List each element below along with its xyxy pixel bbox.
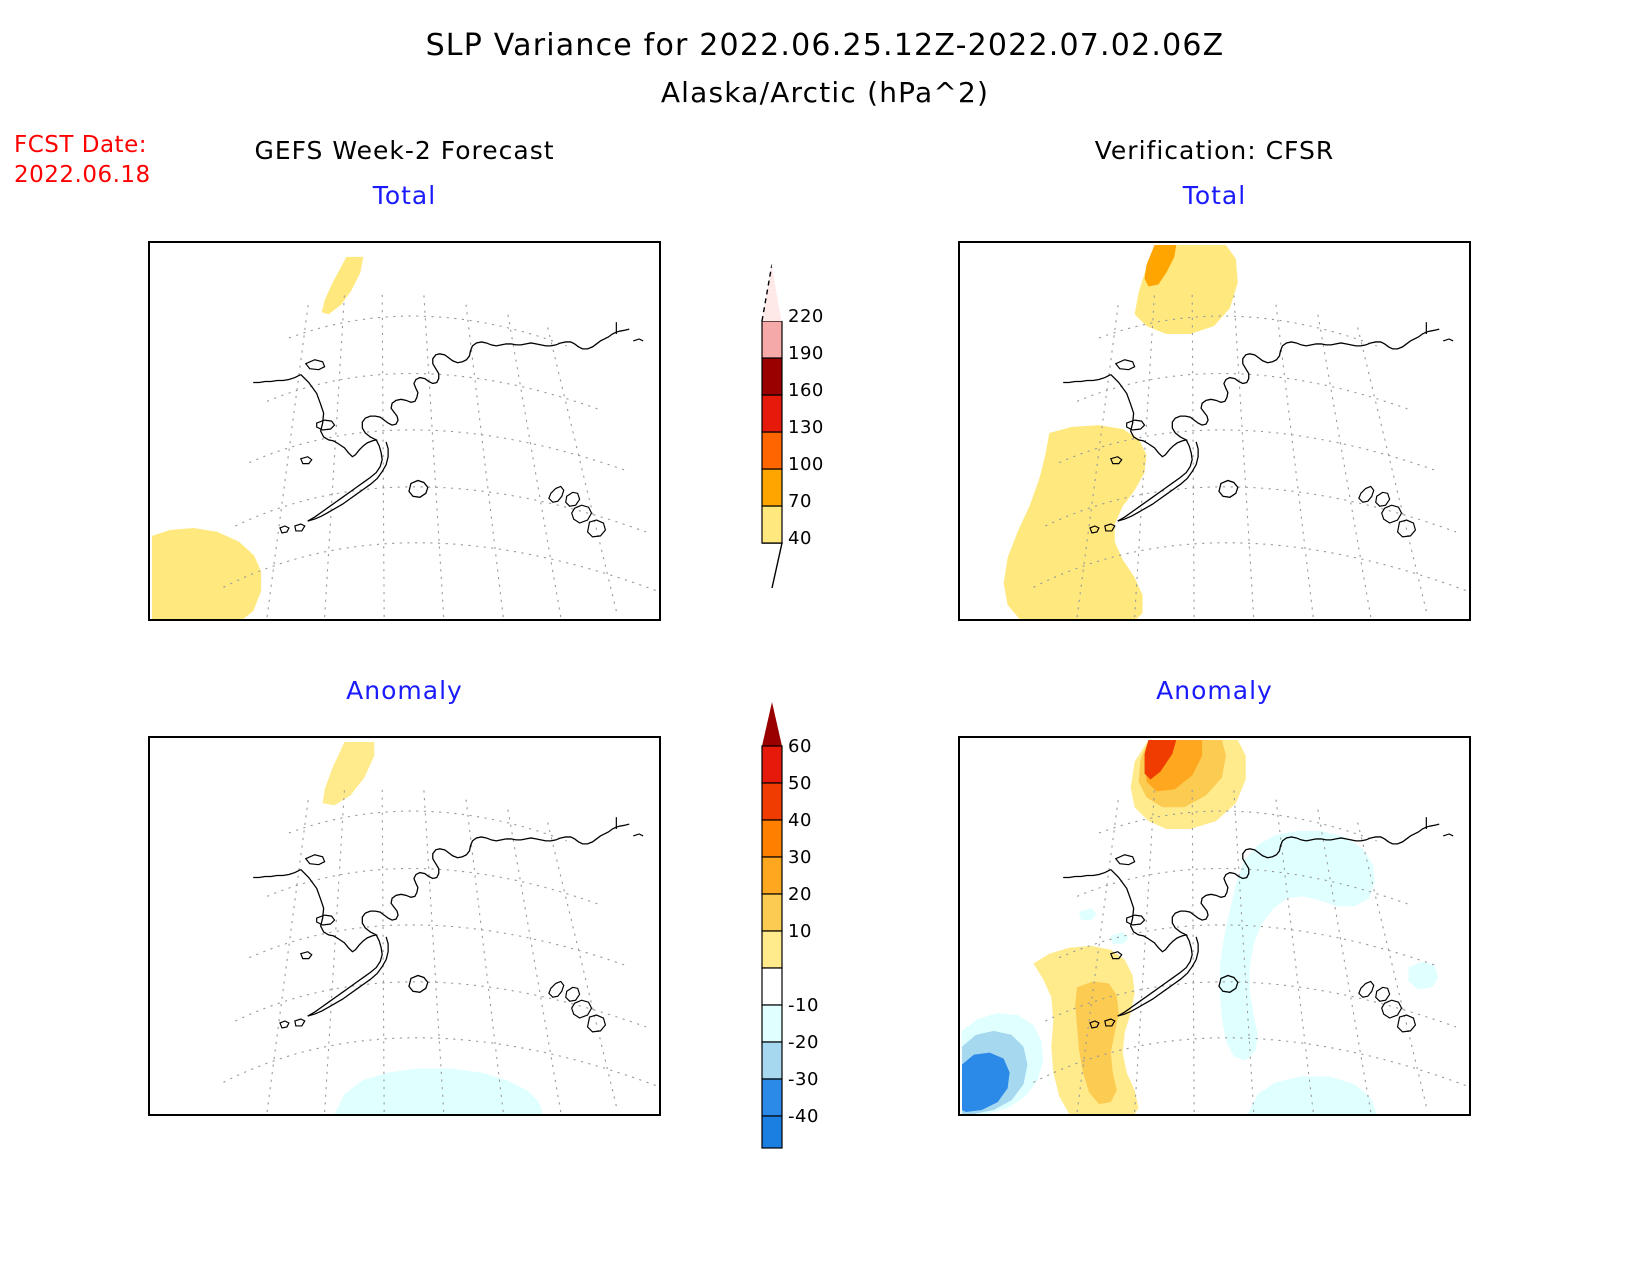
swatch-10-20 [762,931,782,968]
column-header-forecast: GEFS Week-2 Forecast [148,136,661,165]
contour-fill-layer [152,257,363,619]
colorbar-anomaly-tick-minus20: -20 [788,1032,819,1053]
forecast-date-value: 2022.06.18 [14,160,151,190]
map-panel-forecast-total[interactable] [148,241,661,621]
forecast-date-block: FCST Date: 2022.06.18 [14,130,151,190]
colorbar-total-tick-100: 100 [788,454,824,475]
colorbar-total: 220 190 160 130 100 70 40 [742,258,862,588]
swatch-above-60 [762,702,782,746]
colorbar-anomaly-tick-40: 40 [788,810,812,831]
colorbar-total-tick-220: 220 [788,306,824,327]
contour-fill-layer [1004,245,1238,619]
colorbar-total-tick-70: 70 [788,491,812,512]
colorbar-total-tick-40: 40 [788,528,812,549]
swatch-130-160 [762,395,782,432]
panel-title-bottom-left: Anomaly [148,676,661,705]
contour-band-minus20-minus10 [1248,1076,1377,1114]
contour-band-40-70 [152,528,261,619]
map-plot-forecast-total [150,243,659,619]
graticule-layer [223,292,658,617]
coastline-layer [253,817,643,1032]
swatch-30-40 [762,820,782,857]
coastline-layer [253,322,643,537]
map-panel-verification-total[interactable] [958,241,1471,621]
panel-title-top-right: Total [958,181,1471,210]
contour-band-10-20 [323,742,375,805]
colorbar-total-tick-130: 130 [788,417,824,438]
page-subtitle: Alaska/Arctic (hPa^2) [0,76,1650,109]
contour-band-minus20-minus10 [1111,932,1129,944]
map-plot-verification-anomaly [960,738,1469,1114]
swatch-minus20-minus10 [762,1005,782,1042]
swatch-20-30b [762,894,782,931]
colorbar-lower-extend [762,543,782,588]
colorbar-total-tick-160: 160 [788,380,824,401]
column-header-verification: Verification: CFSR [958,136,1471,165]
colorbar-anomaly-tick-50: 50 [788,773,812,794]
swatch-190-220 [762,321,782,358]
graticule-layer [223,787,658,1112]
colorbar-anomaly: 60 50 40 30 20 10 -10 -20 -30 -40 [736,700,862,1150]
swatch-100-130 [762,432,782,469]
swatch-20-30 [762,857,782,894]
swatch-40-70 [762,506,782,543]
contour-band-minus20-minus10 [1220,831,1375,1061]
colorbar-anomaly-tick-20: 20 [788,884,812,905]
swatch-50-60 [762,746,782,783]
colorbar-anomaly-tick-minus30: -30 [788,1069,819,1090]
swatch-above-220 [762,264,782,321]
colorbar-total-tick-190: 190 [788,343,824,364]
map-plot-forecast-anomaly [150,738,659,1114]
colorbar-anomaly-tick-30: 30 [788,847,812,868]
contour-band-40-70 [322,257,364,314]
page-title: SLP Variance for 2022.06.25.12Z-2022.07.… [0,28,1650,63]
contour-fill-layer [962,740,1438,1114]
contour-band-minus20-minus10 [335,1068,543,1114]
swatch-40-50 [762,783,782,820]
colorbar-anomaly-tick-60: 60 [788,736,812,757]
swatch-minus40-minus30 [762,1079,782,1116]
panel-title-top-left: Total [148,181,661,210]
map-panel-forecast-anomaly[interactable] [148,736,661,1116]
colorbar-anomaly-tick-minus10: -10 [788,995,819,1016]
panel-title-bottom-right: Anomaly [958,676,1471,705]
swatch-minus30-minus20 [762,1042,782,1079]
colorbar-anomaly-tick-10: 10 [788,921,812,942]
contour-band-40-70 [1004,425,1147,619]
swatch-below-minus40 [762,1116,782,1148]
map-panel-verification-anomaly[interactable] [958,736,1471,1116]
swatch-160-190 [762,358,782,395]
contour-band-minus20-minus10 [1408,962,1438,990]
map-plot-verification-total [960,243,1469,619]
colorbar-anomaly-tick-minus40: -40 [788,1106,819,1127]
contour-band-minus20-minus10 [1079,908,1097,920]
forecast-date-label: FCST Date: [14,130,151,160]
swatch-zero [762,968,782,1005]
swatch-70-100 [762,469,782,506]
